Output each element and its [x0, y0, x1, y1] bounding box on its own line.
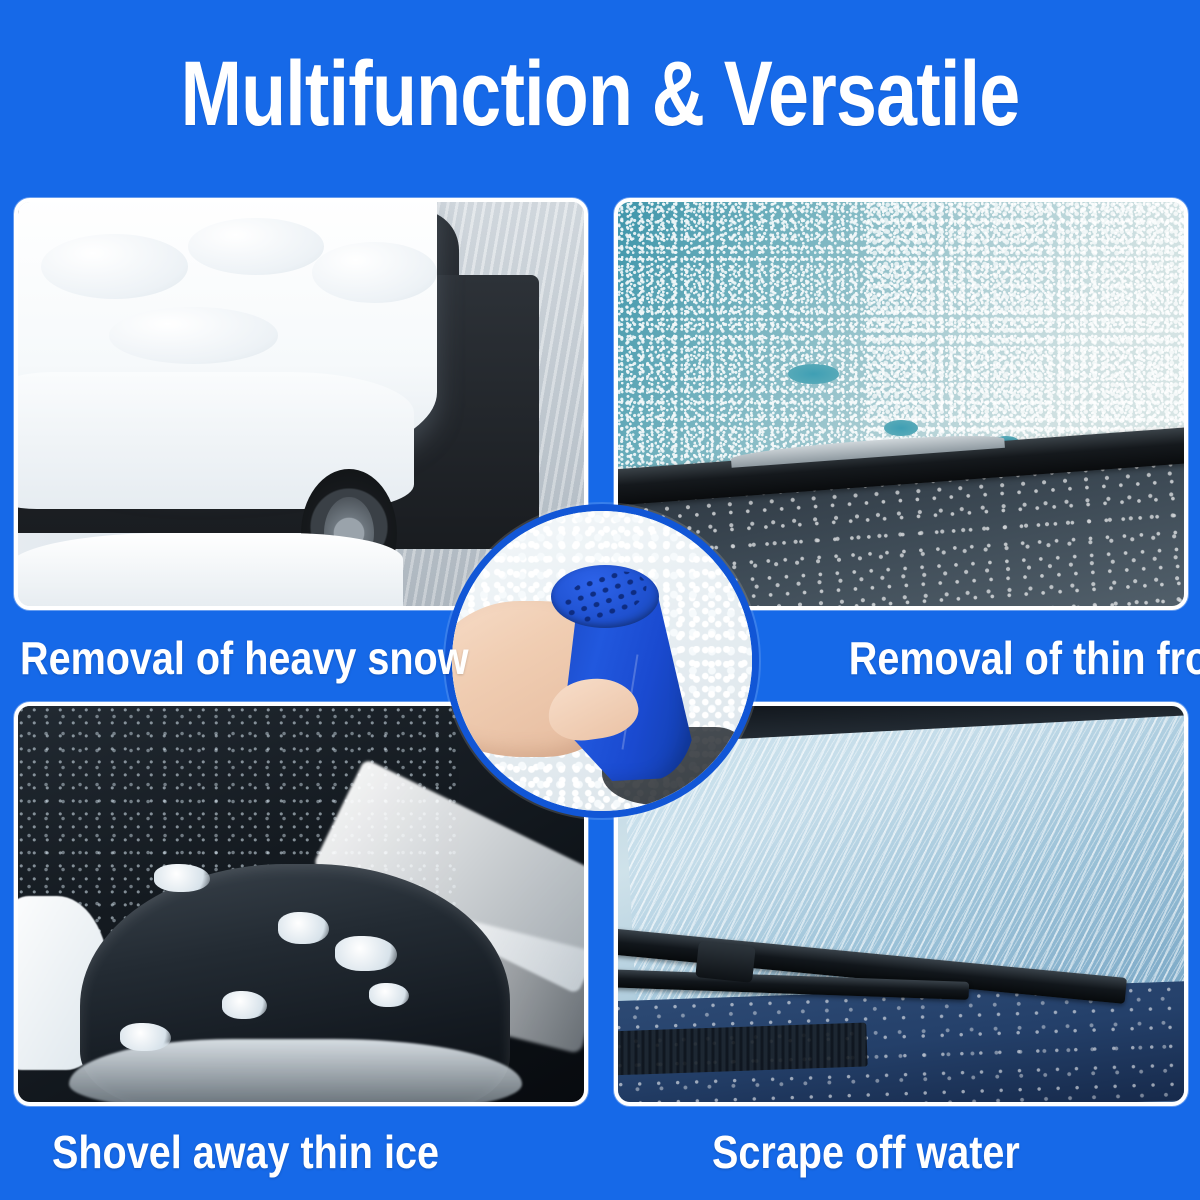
cowl-vent-grille	[618, 1022, 868, 1075]
scraper-dimple-pattern	[557, 562, 653, 632]
caption-thin-frost: Removal of thin frost	[849, 630, 1200, 686]
snow-lump	[109, 307, 279, 364]
page-title: Multifunction & Versatile	[120, 42, 1080, 146]
snow-lump	[312, 242, 437, 303]
ice-crystal	[335, 936, 397, 972]
caption-heavy-snow: Removal of heavy snow	[20, 630, 468, 686]
product-center-inset	[445, 504, 759, 818]
ice-crystal	[369, 983, 409, 1007]
snow-lump	[188, 218, 324, 275]
ice-crystal	[222, 991, 267, 1019]
snow-ground	[18, 533, 403, 606]
caption-scrape-water: Scrape off water	[712, 1124, 1020, 1180]
caption-thin-ice: Shovel away thin ice	[52, 1124, 439, 1180]
ice-crystal	[120, 1023, 171, 1051]
wiper-arm-joint	[696, 941, 756, 982]
ice-crystal	[154, 864, 211, 892]
clear-glass-spot	[788, 364, 839, 384]
scraper-textured-top	[551, 565, 659, 628]
snow-lump	[41, 234, 188, 299]
ice-crystal	[278, 912, 329, 944]
